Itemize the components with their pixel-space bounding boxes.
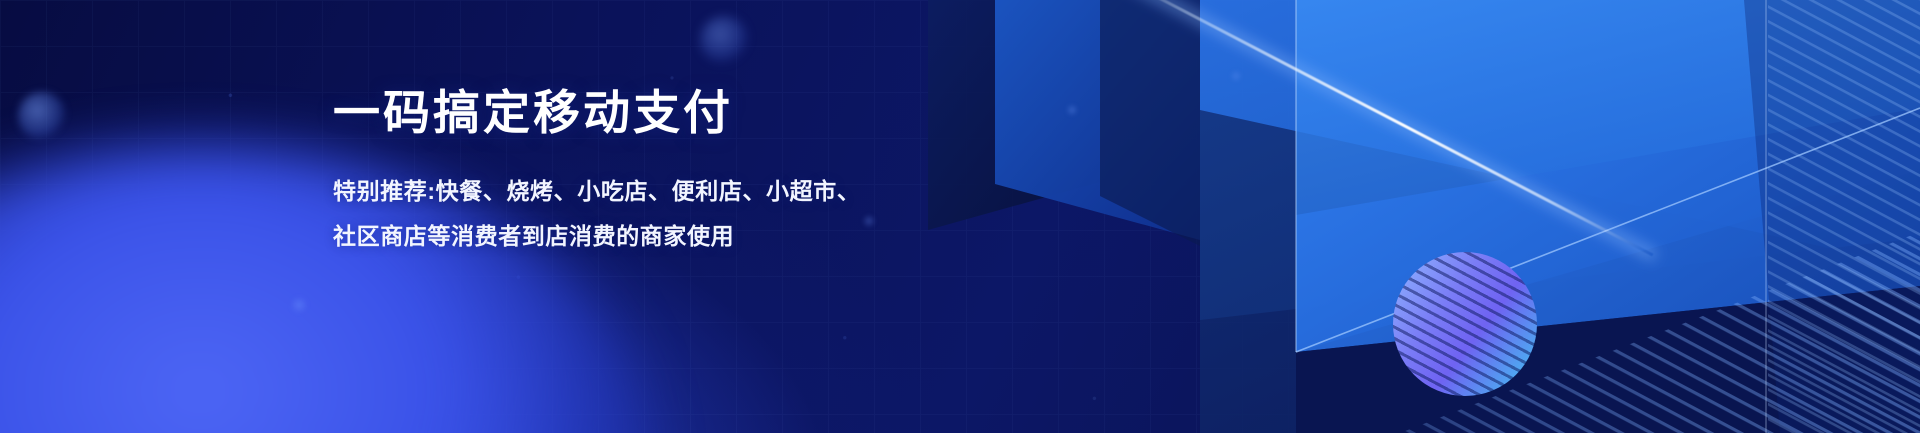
panel-edge-highlight-a [1296,108,1920,352]
panel-bright-parallelogram [1296,0,1920,352]
bokeh-circle-left [18,92,66,140]
stripe-group-lower [1400,232,1920,433]
striped-sphere [1393,252,1537,396]
bokeh-dot-d [1230,70,1242,82]
panel-wide-angled [1200,0,1920,320]
banner-subtitle-line-1: 特别推荐:快餐、烧烤、小吃店、便利店、小超市、 [333,169,1093,214]
promo-banner: 一码搞定移动支付 特别推荐:快餐、烧烤、小吃店、便利店、小超市、 社区商店等消费… [0,0,1920,433]
banner-text-block: 一码搞定移动支付 特别推荐:快餐、烧烤、小吃店、便利店、小超市、 社区商店等消费… [333,84,1093,259]
stripe-group-right [1768,0,1920,433]
panel-dark-wedge [1100,0,1200,246]
light-streak [1084,0,1653,256]
banner-headline: 一码搞定移动支付 [333,84,1093,142]
panel-foreground-navy [1296,286,1920,433]
bokeh-dot-a [290,296,308,314]
bokeh-circle-top [700,16,748,64]
banner-subtitle: 特别推荐:快餐、烧烤、小吃店、便利店、小超市、 社区商店等消费者到店消费的商家使… [333,169,1093,259]
panel-light-slab [1296,108,1920,352]
panel-right-edge [1744,0,1920,433]
panel-lower-dark [1200,110,1920,433]
banner-subtitle-line-2: 社区商店等消费者到店消费的商家使用 [333,214,1093,259]
